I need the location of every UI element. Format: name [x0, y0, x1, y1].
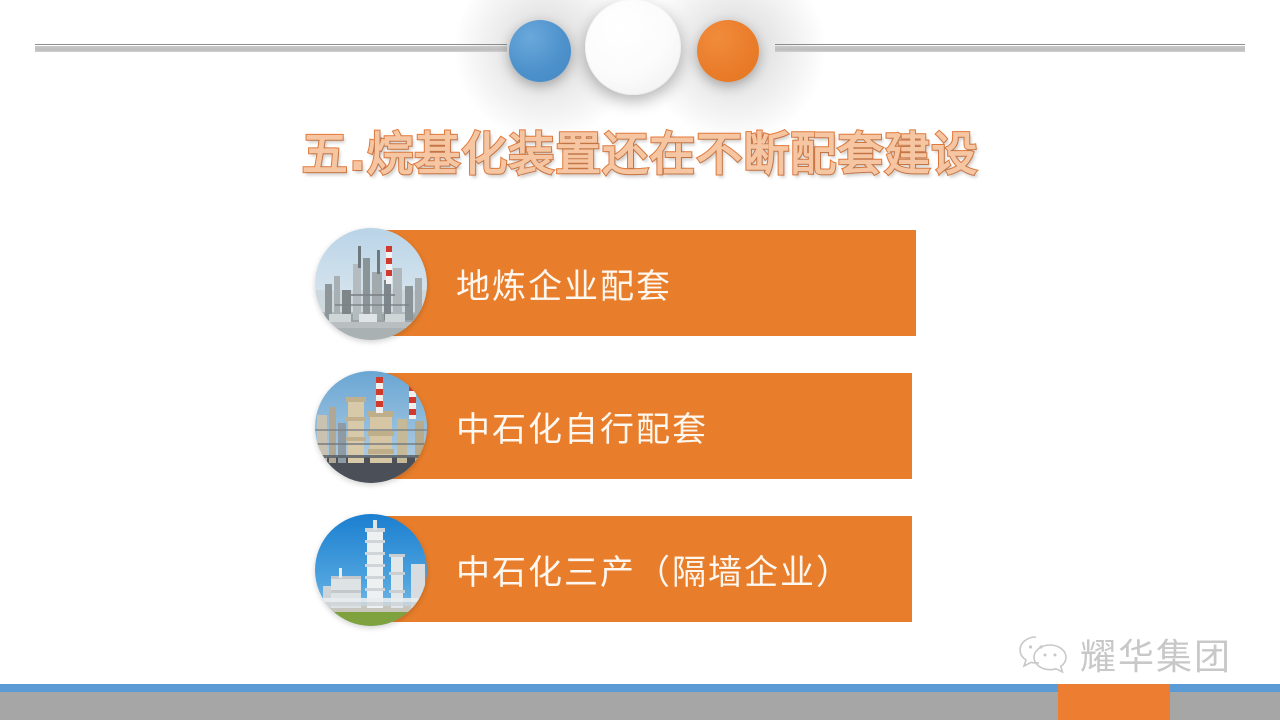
wechat-icon — [1018, 633, 1068, 675]
list-item: 地炼企业配套 — [0, 228, 1280, 340]
banner-label: 中石化自行配套 — [456, 402, 708, 451]
banner-label: 地炼企业配套 — [456, 259, 672, 308]
watermark: 耀华集团 — [1018, 628, 1232, 680]
header-rule-right-thick — [775, 46, 1245, 52]
banner-shape[interactable]: 中石化三产（隔墙企业） — [368, 516, 912, 622]
header-rule-left — [35, 44, 507, 52]
banner-shape[interactable]: 地炼企业配套 — [368, 230, 916, 336]
refinery-wide-photo — [315, 228, 427, 340]
slide-canvas: 五.烷基化装置还在不断配套建设 地炼企业配套 — [0, 0, 1280, 720]
banner-shape[interactable]: 中石化自行配套 — [368, 373, 912, 479]
refinery-closeup-photo — [315, 371, 427, 483]
banner-label: 中石化三产（隔墙企业） — [456, 545, 852, 594]
list-item: 中石化三产（隔墙企业） — [0, 514, 1280, 626]
watermark-label: 耀华集团 — [1080, 628, 1232, 680]
white-circle-icon — [585, 0, 681, 95]
orange-circle-icon — [697, 20, 759, 82]
header-rule-right-thin — [775, 44, 1245, 45]
refinery-column-photo — [315, 514, 427, 626]
header-rule-right — [775, 44, 1245, 52]
footer-orange-block — [1058, 684, 1170, 720]
list-item: 中石化自行配套 — [0, 371, 1280, 483]
header-rule-left-thin — [35, 44, 507, 45]
blue-circle-icon — [509, 20, 571, 82]
page-title: 五.烷基化装置还在不断配套建设 — [0, 118, 1280, 184]
header-rule-left-thick — [35, 46, 507, 52]
